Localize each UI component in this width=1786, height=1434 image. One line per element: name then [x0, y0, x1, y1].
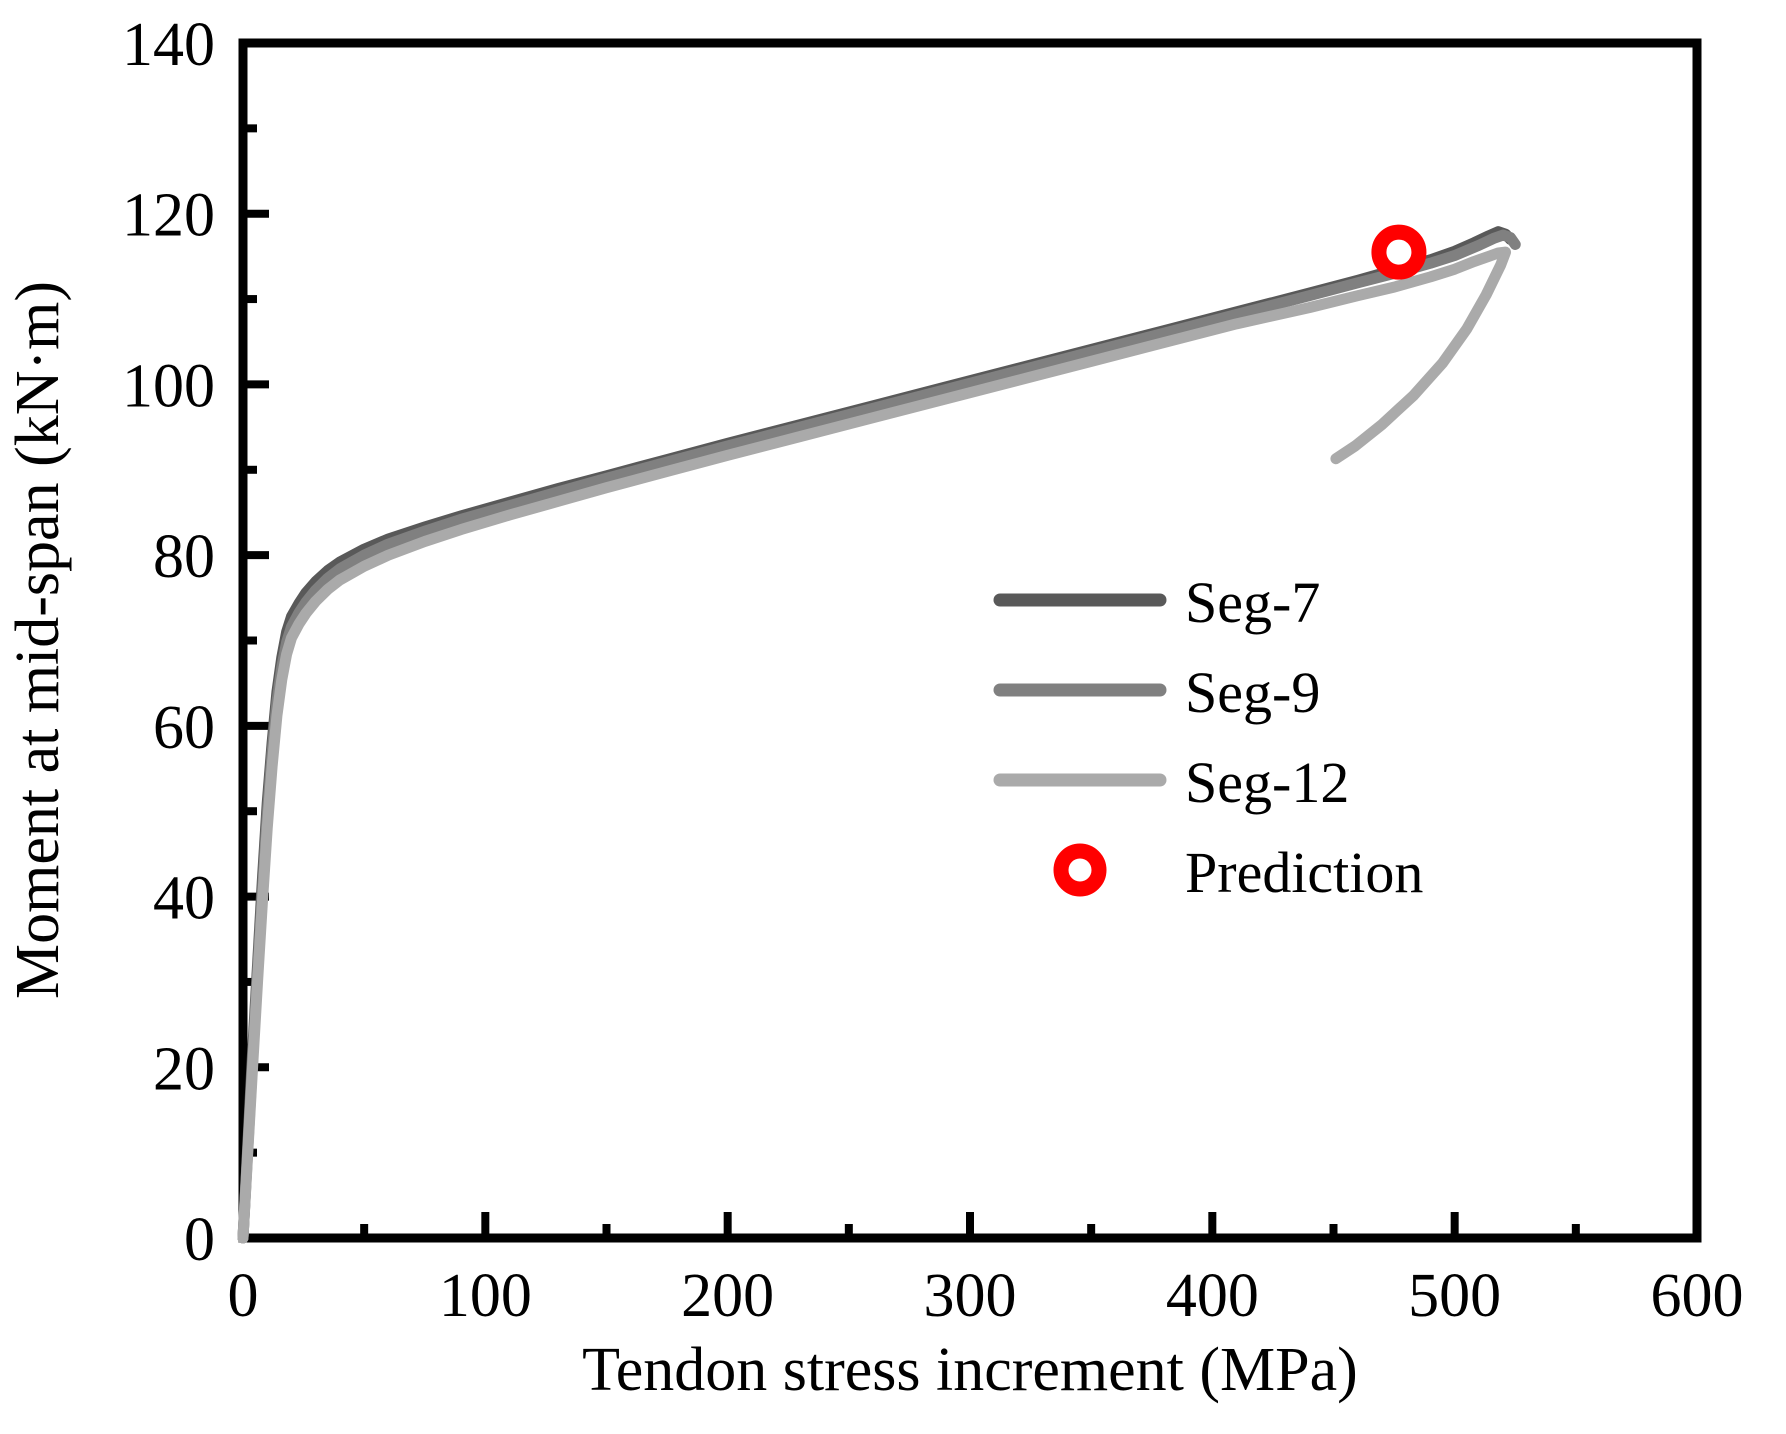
- x-tick-label: 400: [1166, 1262, 1259, 1330]
- y-axis-title: Moment at mid-span (kN·m): [4, 281, 72, 999]
- series-line-seg-9: [243, 235, 1515, 1238]
- x-axis-title: Tendon stress increment (MPa): [582, 1336, 1358, 1404]
- x-tick-labels: 0100200300400500600: [228, 1262, 1744, 1330]
- chart-figure: 0100200300400500600 020406080100120140 S…: [0, 0, 1786, 1434]
- prediction-marker: [1379, 232, 1419, 272]
- y-tick-label: 140: [122, 11, 215, 79]
- legend-label: Seg-12: [1185, 750, 1349, 815]
- plot-border: [243, 43, 1697, 1238]
- x-tick-label: 300: [924, 1262, 1017, 1330]
- legend: Seg-7Seg-9Seg-12Prediction: [1000, 570, 1423, 905]
- y-tick-label: 20: [153, 1035, 215, 1103]
- legend-label: Seg-9: [1185, 660, 1320, 725]
- y-tick-label: 100: [122, 352, 215, 420]
- x-tick-label: 0: [228, 1262, 259, 1330]
- legend-swatch-marker: [1061, 851, 1099, 889]
- x-tick-label: 500: [1408, 1262, 1501, 1330]
- x-tick-label: 100: [439, 1262, 532, 1330]
- series-line-seg-7: [243, 232, 1510, 1238]
- y-tick-label: 40: [153, 865, 215, 933]
- y-tick-label: 80: [153, 523, 215, 591]
- y-tick-label: 120: [122, 182, 215, 250]
- plot-frame: [243, 43, 1697, 1238]
- legend-label: Prediction: [1185, 840, 1423, 905]
- x-tick-label: 200: [681, 1262, 774, 1330]
- y-tick-label: 60: [153, 694, 215, 762]
- x-tick-label: 600: [1651, 1262, 1744, 1330]
- chart-svg: 0100200300400500600 020406080100120140 S…: [0, 0, 1786, 1434]
- y-tick-label: 0: [184, 1206, 215, 1274]
- prediction-markers-group: [1379, 232, 1419, 272]
- y-tick-labels: 020406080100120140: [122, 11, 215, 1274]
- data-series-group: [243, 232, 1515, 1238]
- legend-label: Seg-7: [1185, 570, 1320, 635]
- axis-ticks: [243, 43, 1697, 1238]
